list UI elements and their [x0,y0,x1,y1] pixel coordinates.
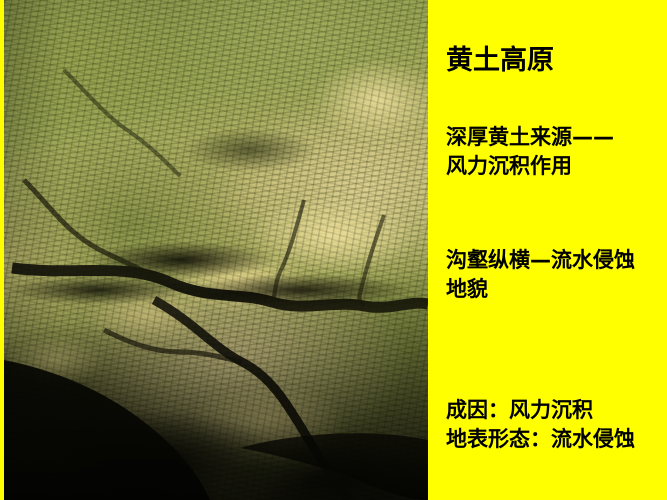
slide-root: 黄土高原 深厚黄土来源—— 风力沉积作用 沟壑纵横—流水侵蚀 地貌 成因：风力沉… [0,0,667,500]
summary-text: 成因：风力沉积 地表形态：流水侵蚀 [446,396,635,454]
landform-description-text: 沟壑纵横—流水侵蚀 地貌 [446,246,635,304]
aerial-photo-loess-plateau [4,0,428,500]
origin-description-text: 深厚黄土来源—— 风力沉积作用 [446,123,614,181]
photo-vignette [4,0,428,500]
text-panel: 黄土高原 深厚黄土来源—— 风力沉积作用 沟壑纵横—流水侵蚀 地貌 成因：风力沉… [428,0,667,500]
page-title: 黄土高原 [446,44,554,78]
photo-panel [0,0,428,500]
